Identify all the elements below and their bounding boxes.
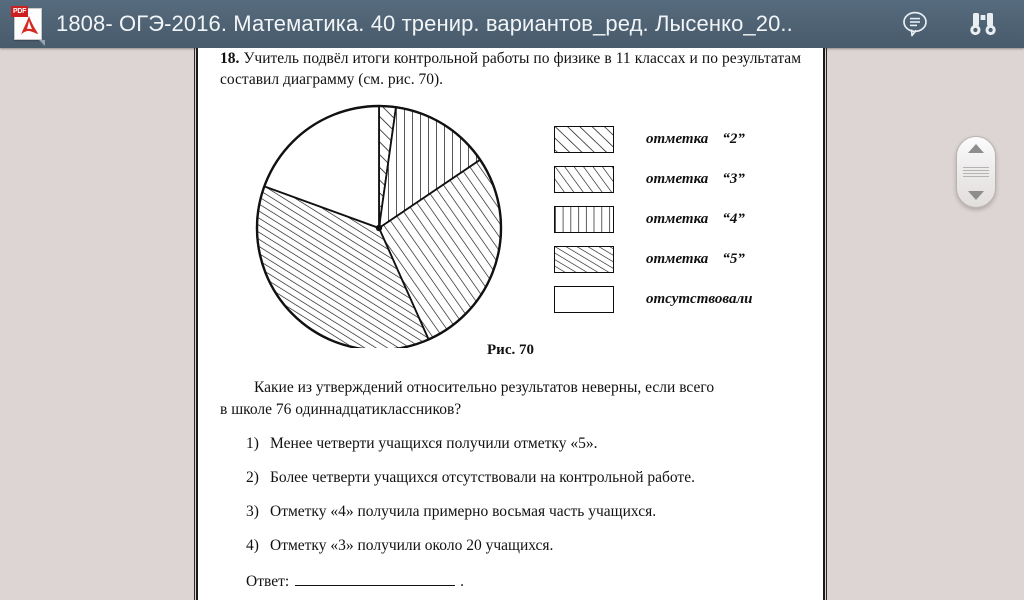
option-3: 3) Отметку «4» получила примерно восьмая… xyxy=(220,501,801,523)
legend-label-mark-2: отметка“2” xyxy=(646,131,745,148)
options-list: 1) Менее четверти учащихся получили отме… xyxy=(220,433,801,557)
option-number: 3) xyxy=(246,501,270,523)
legend-item: отметка“5” xyxy=(554,246,753,273)
pie-chart xyxy=(244,96,514,353)
legend-item: отсутствовали xyxy=(554,286,753,313)
option-text: Отметку «4» получила примерно восьмая ча… xyxy=(270,501,656,523)
titlebar: PDF 1808- ОГЭ-2016. Математика. 40 трени… xyxy=(0,0,1024,48)
legend-label-mark-3: отметка“3” xyxy=(646,171,745,188)
titlebar-actions xyxy=(898,7,1000,41)
legend-label-absent: отсутствовали xyxy=(646,291,753,308)
legend-swatch-mark-5 xyxy=(554,246,614,273)
page-fold xyxy=(39,40,45,46)
answer-blank xyxy=(295,573,455,586)
option-text: Более четверти учащихся отсутствовали на… xyxy=(270,467,695,489)
problem-number: 18. xyxy=(220,50,239,67)
option-number: 2) xyxy=(246,467,270,489)
legend-swatch-mark-4 xyxy=(554,206,614,233)
answer-label: Ответ: xyxy=(246,573,289,591)
comment-icon[interactable] xyxy=(898,7,932,41)
next-page-arrow-icon[interactable] xyxy=(968,191,984,200)
question-line-1: Какие из утверждений относительно резуль… xyxy=(220,377,801,399)
problem-statement: 18. Учитель подвёл итоги контрольной раб… xyxy=(220,48,801,90)
problem-text: Учитель подвёл итоги контрольной работы … xyxy=(220,50,801,88)
pie-center-dot xyxy=(376,225,382,231)
legend-label-mark-5: отметка“5” xyxy=(646,251,745,268)
adobe-a-glyph xyxy=(18,14,40,38)
drag-grip-icon[interactable] xyxy=(963,165,989,179)
answer-line: Ответ: . xyxy=(220,573,801,591)
option-1: 1) Менее четверти учащихся получили отме… xyxy=(220,433,801,455)
question-prompt: Какие из утверждений относительно резуль… xyxy=(220,377,801,421)
document-title: 1808- ОГЭ-2016. Математика. 40 тренир. в… xyxy=(56,11,898,37)
chart-legend: отметка“2” отметка“3” xyxy=(554,126,753,313)
pdf-badge: PDF xyxy=(11,6,28,17)
page-navigation-control[interactable] xyxy=(956,136,996,208)
legend-label-mark-4: отметка“4” xyxy=(646,211,745,228)
option-number: 4) xyxy=(246,535,270,557)
binoculars-search-icon[interactable] xyxy=(966,7,1000,41)
pdf-viewer-window: PDF 1808- ОГЭ-2016. Математика. 40 трени… xyxy=(0,0,1024,600)
previous-page-arrow-icon[interactable] xyxy=(968,144,984,153)
legend-item: отметка“3” xyxy=(554,166,753,193)
document-viewport[interactable]: 18. Учитель подвёл итоги контрольной раб… xyxy=(0,48,1024,600)
option-text: Отметку «3» получили около 20 учащихся. xyxy=(270,535,553,557)
legend-swatch-mark-3 xyxy=(554,166,614,193)
answer-period: . xyxy=(460,573,464,591)
legend-item: отметка“2” xyxy=(554,126,753,153)
legend-swatch-mark-2 xyxy=(554,126,614,153)
option-number: 1) xyxy=(246,433,270,455)
question-line-2: в школе 76 одиннадцатиклассников? xyxy=(220,399,801,421)
option-4: 4) Отметку «3» получили около 20 учащихс… xyxy=(220,535,801,557)
legend-item: отметка“4” xyxy=(554,206,753,233)
pdf-page: 18. Учитель подвёл итоги контрольной раб… xyxy=(196,48,825,600)
option-2: 2) Более четверти учащихся отсутствовали… xyxy=(220,467,801,489)
pdf-file-icon: PDF xyxy=(10,5,44,43)
figure-70: отметка“2” отметка“3” xyxy=(220,96,801,348)
legend-swatch-absent xyxy=(554,286,614,313)
option-text: Менее четверти учащихся получили отметку… xyxy=(270,433,597,455)
